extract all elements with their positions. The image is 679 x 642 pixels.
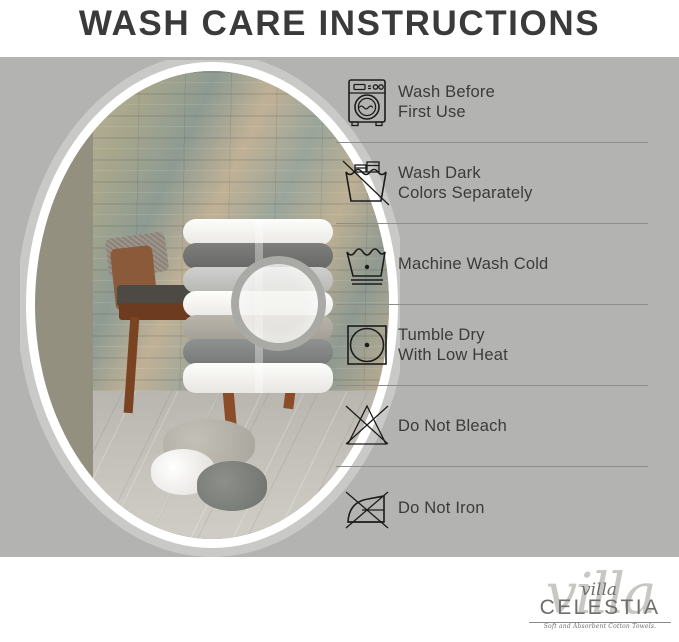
care-label: Tumble Dry With Low Heat bbox=[398, 325, 508, 365]
rolled-towel bbox=[197, 461, 267, 511]
brand-logo: villa villa CELESTIA Soft and Absorbent … bbox=[529, 560, 671, 640]
care-row: Tumble Dry With Low Heat bbox=[336, 305, 648, 386]
logo-tagline: Soft and Absorbent Cotton Towels. bbox=[529, 623, 671, 630]
do-not-bleach-icon bbox=[336, 400, 398, 452]
care-row: Do Not Iron bbox=[336, 467, 648, 548]
folded-towel bbox=[183, 363, 333, 393]
care-instructions-list: Wash Before First Use Wash Dark Colors S… bbox=[336, 62, 648, 548]
care-label: Machine Wash Cold bbox=[398, 254, 548, 274]
tumble-dry-low-heat-icon bbox=[336, 321, 398, 369]
circle-accent-overlay bbox=[231, 256, 326, 351]
care-row: Wash Before First Use bbox=[336, 62, 648, 143]
do-not-iron-icon bbox=[336, 484, 398, 532]
washing-machine-icon bbox=[336, 77, 398, 127]
machine-wash-cold-icon bbox=[336, 240, 398, 288]
care-row: Wash Dark Colors Separately bbox=[336, 143, 648, 224]
wash-dark-separately-icon bbox=[336, 159, 398, 207]
folded-towel bbox=[183, 219, 333, 245]
care-label: Wash Dark Colors Separately bbox=[398, 163, 533, 203]
care-label: Do Not Bleach bbox=[398, 416, 507, 436]
care-label: Do Not Iron bbox=[398, 498, 485, 518]
page-title: WASH CARE INSTRUCTIONS bbox=[0, 0, 679, 48]
care-row: Machine Wash Cold bbox=[336, 224, 648, 305]
care-row: Do Not Bleach bbox=[336, 386, 648, 467]
care-label: Wash Before First Use bbox=[398, 82, 495, 122]
logo-brand-name: CELESTIA bbox=[529, 596, 671, 623]
